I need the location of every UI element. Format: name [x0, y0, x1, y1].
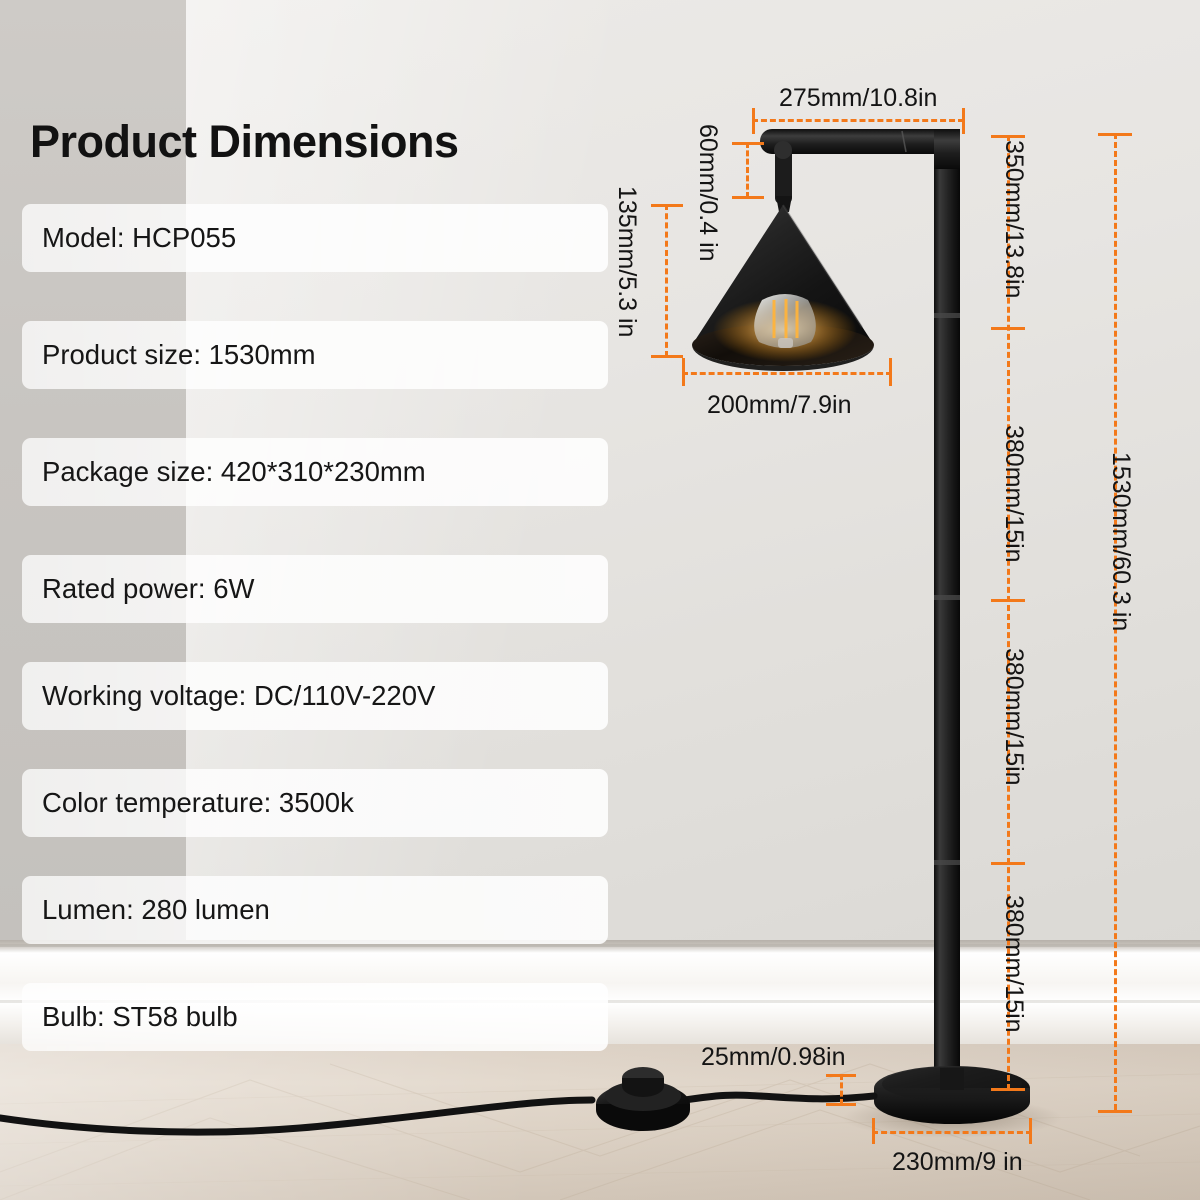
spec-label: Model: HCP055: [22, 222, 236, 254]
spec-row-model: Model: HCP055: [22, 204, 608, 272]
dimline-neck-height: [746, 142, 749, 198]
dimlabel-shade-height: 135mm/5.3 in: [612, 186, 641, 337]
dimline-shade-diameter: [682, 372, 892, 375]
dimcap-base-dia-right: [1029, 1118, 1032, 1144]
spec-row-voltage: Working voltage: DC/110V-220V: [22, 662, 608, 730]
spec-label: Working voltage: DC/110V-220V: [22, 680, 435, 712]
dimcap-shade-dia-right: [889, 358, 892, 386]
dimcap-total-bottom: [1098, 1110, 1132, 1113]
dimlabel-pole-seg-4: 380mm/15in: [999, 895, 1028, 1033]
spec-row-rated-power: Rated power: 6W: [22, 555, 608, 623]
dimcap-pole-0: [991, 135, 1025, 138]
spec-label: Color temperature: 3500k: [22, 787, 354, 819]
spec-label: Bulb: ST58 bulb: [22, 1001, 238, 1033]
dimline-shade-height: [665, 204, 668, 357]
dimlabel-base-diameter: 230mm/9 in: [892, 1148, 1023, 1177]
dimcap-pole-3: [991, 862, 1025, 865]
dimcap-total-top: [1098, 133, 1132, 136]
dimcap-arm-left: [752, 108, 755, 134]
spec-label: Product size: 1530mm: [22, 339, 316, 371]
spec-row-bulb: Bulb: ST58 bulb: [22, 983, 608, 1051]
dimline-arm-width: [752, 119, 964, 122]
spec-row-package-size: Package size: 420*310*230mm: [22, 438, 608, 506]
spec-row-color-temp: Color temperature: 3500k: [22, 769, 608, 837]
dimline-base-diameter: [872, 1131, 1032, 1134]
dimcap-pole-1: [991, 327, 1025, 330]
dimcap-pole-2: [991, 599, 1025, 602]
dimcap-shade-dia-left: [682, 358, 685, 386]
spec-row-product-size: Product size: 1530mm: [22, 321, 608, 389]
spec-label: Package size: 420*310*230mm: [22, 456, 426, 488]
dimline-base-thickness: [840, 1074, 843, 1105]
dimcap-arm-right: [962, 108, 965, 134]
dimcap-base-dia-left: [872, 1118, 875, 1144]
dimlabel-shade-diameter: 200mm/7.9in: [707, 391, 852, 420]
dimlabel-pole-seg-3: 380mm/15in: [999, 648, 1028, 786]
dimlabel-neck-height: 60mm/0.4 in: [693, 124, 722, 262]
page-title: Product Dimensions: [30, 116, 459, 168]
spec-label: Lumen: 280 lumen: [22, 894, 270, 926]
spec-label: Rated power: 6W: [22, 573, 254, 605]
spec-row-lumen: Lumen: 280 lumen: [22, 876, 608, 944]
dimlabel-pole-seg-2: 380mm/15in: [999, 425, 1028, 563]
dimlabel-base-thickness: 25mm/0.98in: [701, 1043, 846, 1072]
dimcap-pole-4: [991, 1088, 1025, 1091]
dimlabel-total-height: 1530mm/60.3 in: [1106, 452, 1135, 631]
product-dimensions-infographic: Product Dimensions Model: HCP055 Product…: [0, 0, 1200, 1200]
dimlabel-arm-width: 275mm/10.8in: [779, 84, 937, 113]
dimlabel-pole-seg-1: 350mm/13.8in: [999, 140, 1028, 298]
